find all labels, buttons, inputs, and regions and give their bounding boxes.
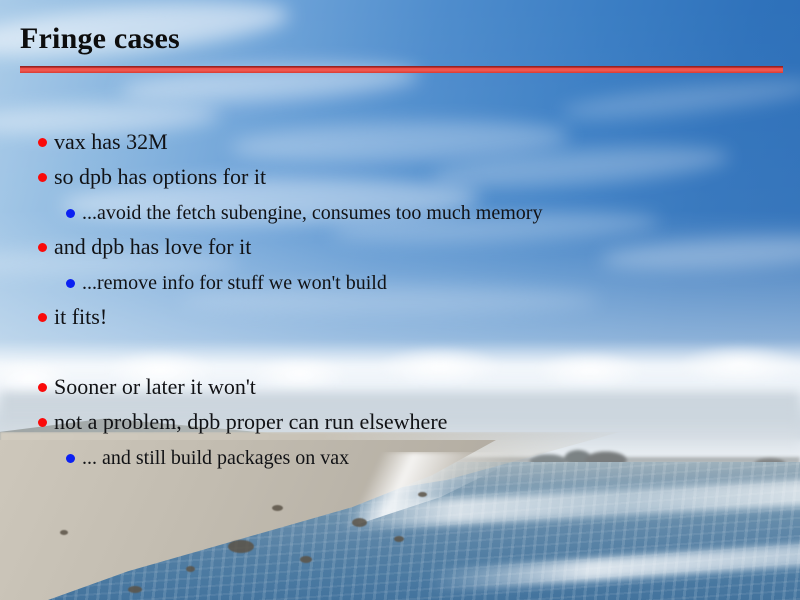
beach-rock: [394, 536, 404, 542]
bullet-dot-red-icon: [38, 138, 47, 147]
beach-rock: [60, 530, 68, 535]
bullet-item-level1: it fits!: [0, 301, 800, 336]
bullet-text: Sooner or later it won't: [54, 372, 256, 402]
bullet-item-level2: ...remove info for stuff we won't build: [0, 266, 800, 301]
slide-title: Fringe cases: [20, 22, 180, 56]
bullet-spacer: [0, 336, 800, 371]
beach-rock: [228, 540, 254, 553]
bullet-item-level1: vax has 32M: [0, 126, 800, 161]
bullet-dot-blue-icon: [66, 279, 75, 288]
bullet-text: so dpb has options for it: [54, 162, 266, 192]
beach-rock: [128, 586, 142, 593]
bullet-dot-red-icon: [38, 313, 47, 322]
bullet-list: vax has 32Mso dpb has options for it...a…: [0, 126, 800, 476]
bullet-item-level2: ...avoid the fetch subengine, consumes t…: [0, 196, 800, 231]
presentation-slide: Fringe cases vax has 32Mso dpb has optio…: [0, 0, 800, 600]
beach-rock: [352, 518, 367, 527]
beach-rock: [272, 505, 283, 511]
bullet-text: not a problem, dpb proper can run elsewh…: [54, 407, 447, 437]
beach-rock: [186, 566, 195, 572]
bullet-dot-blue-icon: [66, 454, 75, 463]
bullet-text: ...remove info for stuff we won't build: [82, 269, 387, 297]
bullet-dot-blue-icon: [66, 209, 75, 218]
bullet-item-level1: not a problem, dpb proper can run elsewh…: [0, 406, 800, 441]
bullet-dot-red-icon: [38, 243, 47, 252]
bullet-text: and dpb has love for it: [54, 232, 251, 262]
bullet-text: it fits!: [54, 302, 107, 332]
beach-rock: [300, 556, 312, 563]
bullet-item-level1: and dpb has love for it: [0, 231, 800, 266]
bullet-text: vax has 32M: [54, 127, 168, 157]
bullet-dot-red-icon: [38, 418, 47, 427]
beach-rock: [418, 492, 427, 497]
bullet-text: ...avoid the fetch subengine, consumes t…: [82, 199, 542, 227]
bullet-text: ... and still build packages on vax: [82, 444, 349, 472]
bullet-dot-red-icon: [38, 383, 47, 392]
bullet-item-level1: so dpb has options for it: [0, 161, 800, 196]
bullet-dot-red-icon: [38, 173, 47, 182]
title-divider-rule: [20, 66, 783, 73]
bullet-item-level1: Sooner or later it won't: [0, 371, 800, 406]
bullet-item-level2: ... and still build packages on vax: [0, 441, 800, 476]
